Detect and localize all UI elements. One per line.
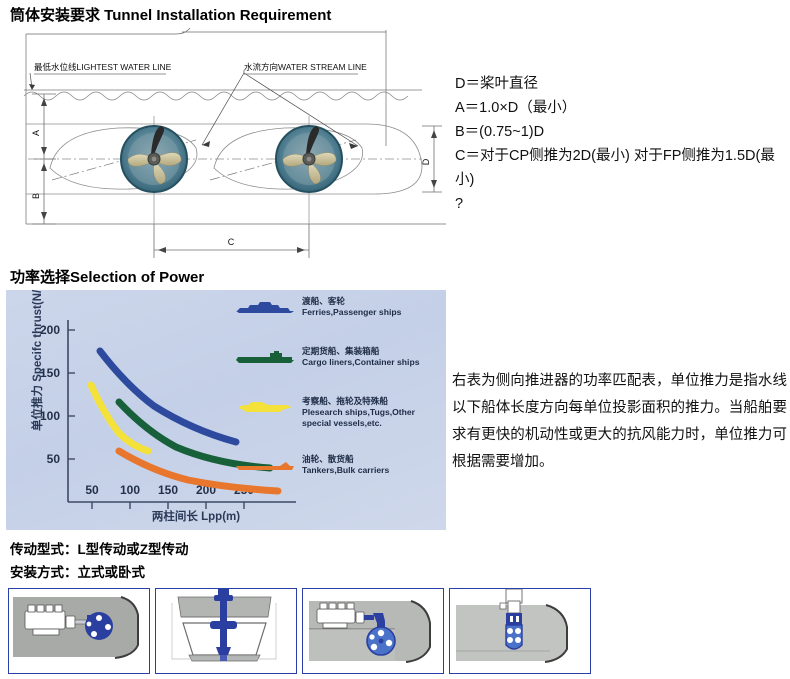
power-note-text: 右表为侧向推进器的功率匹配表，单位推力是指水线以下船体长度方向每单位投影面积的推… (452, 368, 787, 476)
panel-2-drawing (156, 589, 293, 670)
ferry-ship-icon (234, 300, 296, 314)
panel-1-drawing (9, 589, 146, 670)
legend-tankers-en: Tankers,Bulk carriers (302, 465, 442, 476)
tunnel-installation-diagram: A B D C 最低水位线LIGHTEST WATER LINE (6, 28, 446, 260)
installation-panel-vertical (449, 588, 591, 674)
panel-3-drawing (303, 589, 440, 670)
spec-line-b: B＝(0.75~1)D (455, 120, 785, 144)
page-title-tunnel: 筒体安装要求 Tunnel Installation Requirement (10, 4, 331, 25)
propeller-left (121, 126, 187, 192)
legend-tankers-cn: 油轮、散货船 (302, 454, 442, 465)
installation-panel-horizontal (8, 588, 150, 674)
panel-4-drawing (450, 589, 587, 670)
installation-panel-l-drive (302, 588, 444, 674)
spec-line-d: D＝桨叶直径 (455, 72, 785, 96)
installation-panel-vertical-section (155, 588, 297, 674)
series-curve-ferries (100, 351, 236, 442)
legend-cargo-cn: 定期货船、集装箱船 (302, 346, 442, 357)
chart-legend: 渡船、客轮 Ferries,Passenger ships 定期货船、集装箱船 … (234, 298, 439, 506)
hull-section-drawing: A B D C 最低水位线LIGHTEST WATER LINE (6, 28, 446, 260)
dimension-label-b: B (31, 193, 41, 199)
dimension-label-c: C (228, 237, 235, 247)
specific-thrust-chart: 单位推力 Specifc thrust(N/m²) 两柱间长 Lpp(m) 20… (6, 290, 446, 530)
legend-ferries-cn: 渡船、客轮 (302, 296, 442, 307)
page-root: 筒体安装要求 Tunnel Installation Requirement (0, 0, 790, 679)
spec-line-question: ? (455, 192, 785, 216)
tanker-ship-icon (234, 458, 296, 472)
install-type-line: 安装方式：立式或卧式 (10, 561, 145, 581)
legend-item-research: 考察船、拖轮及特殊船 Plesearch ships,Tugs,Other sp… (234, 398, 439, 450)
waterstream-label: 水流方向WATER STREAM LINE (244, 62, 367, 72)
dimension-label-a: A (31, 130, 41, 136)
legend-research-en: Plesearch ships,Tugs,Other special vesse… (302, 407, 442, 429)
thruster-unit-1 (85, 612, 113, 640)
page-title-power: 功率选择Selection of Power (10, 266, 204, 287)
waterline-label: 最低水位线LIGHTEST WATER LINE (34, 62, 172, 72)
legend-item-cargo: 定期货船、集装箱船 Cargo liners,Container ships (234, 348, 439, 392)
spec-parameters: D＝桨叶直径 A＝1.0×D（最小） B＝(0.75~1)D C＝对于CP侧推为… (455, 72, 785, 216)
spec-line-c: C＝对于CP侧推为2D(最小) 对于FP侧推为1.5D(最小) (455, 144, 785, 192)
legend-item-tankers: 油轮、散货船 Tankers,Bulk carriers (234, 456, 439, 500)
legend-ferries-en: Ferries,Passenger ships (302, 307, 442, 318)
spec-line-a: A＝1.0×D（最小） (455, 96, 785, 120)
drive-type-line: 传动型式：L型传动或Z型传动 (10, 538, 189, 558)
legend-item-ferries: 渡船、客轮 Ferries,Passenger ships (234, 298, 439, 342)
propeller-right (276, 126, 342, 192)
research-ship-icon (234, 400, 296, 414)
legend-research-cn: 考察船、拖轮及特殊船 (302, 396, 442, 407)
dimension-label-d: D (421, 158, 431, 165)
cargo-ship-icon (234, 350, 296, 364)
installation-panels (8, 588, 608, 672)
legend-cargo-en: Cargo liners,Container ships (302, 357, 442, 368)
